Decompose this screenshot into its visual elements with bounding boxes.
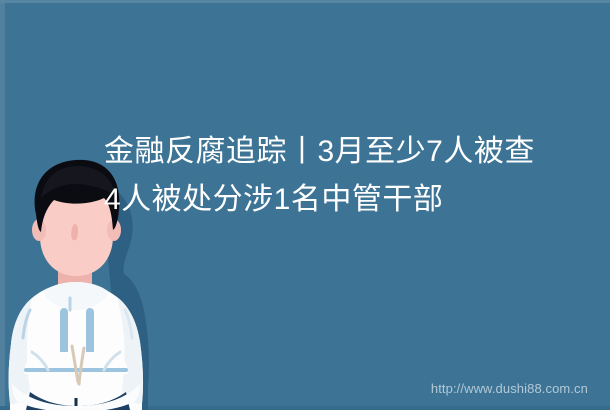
headline-line-2: 4人被处分涉1名中管干部 — [104, 176, 574, 224]
watermark-url: http://www.dushi88.com.cn — [431, 381, 588, 396]
headline: 金融反腐追踪丨3月至少7人被查 4人被处分涉1名中管干部 — [104, 128, 574, 224]
headline-line-1: 金融反腐追踪丨3月至少7人被查 — [104, 128, 574, 176]
top-edge-strip — [0, 0, 610, 3]
poster-canvas: 金融反腐追踪丨3月至少7人被查 4人被处分涉1名中管干部 http://www.… — [0, 0, 610, 410]
